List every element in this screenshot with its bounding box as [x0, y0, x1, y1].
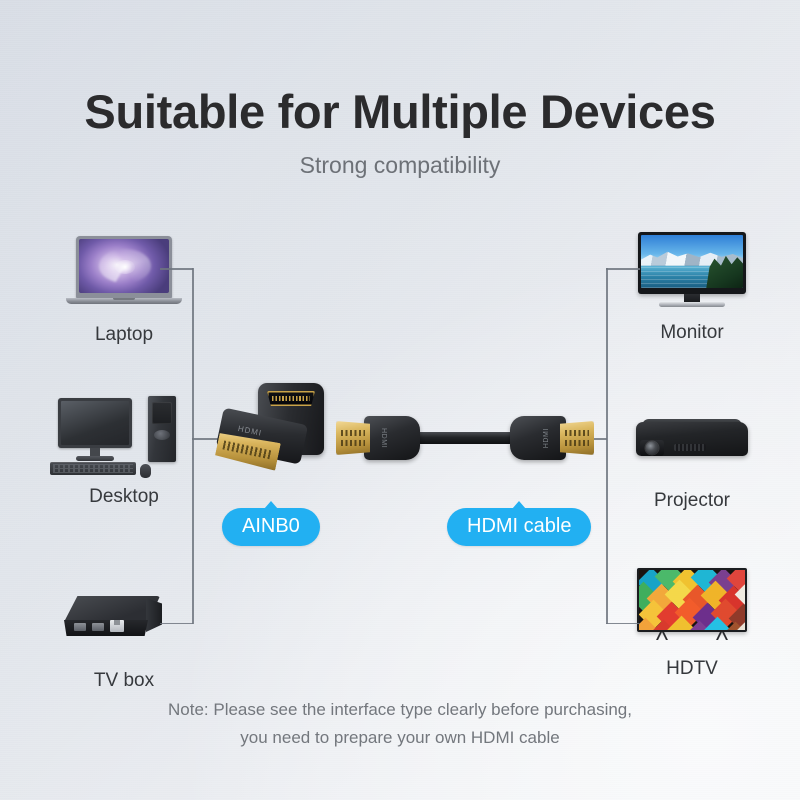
adapter-female-hdmi-port [267, 391, 315, 406]
hdmi-cable-icon: HDMI HDMI [336, 408, 594, 470]
desktop-monitor-foot [76, 456, 114, 461]
cable-hood-left [364, 416, 420, 460]
desktop-monitor [58, 398, 132, 448]
hdtv-bezel [637, 568, 747, 632]
keyboard-icon [50, 462, 136, 475]
hdtv-feet [642, 632, 742, 640]
monitor-screen-landscape [641, 235, 743, 288]
device-label-tvbox: TV box [44, 670, 204, 692]
page-title: Suitable for Multiple Devices [0, 84, 800, 139]
mouse-icon [140, 464, 151, 478]
laptop-wallpaper [79, 239, 169, 293]
tvbox-top [64, 596, 160, 622]
tvbox-port-ethernet [110, 620, 124, 632]
infographic-canvas: Suitable for Multiple Devices Strong com… [0, 0, 800, 800]
tvbox-port-usb-2 [92, 623, 104, 631]
monitor-stand [659, 302, 725, 307]
projector-vent [674, 444, 706, 451]
footer-note-line-2: you need to prepare your own HDMI cable [0, 724, 800, 752]
cable-connector-right [560, 421, 594, 455]
page-subtitle: Strong compatibility [0, 152, 800, 179]
badge-cable-name[interactable]: HDMI cable [447, 508, 591, 546]
laptop-screen [76, 236, 172, 298]
footer-note: Note: Please see the interface type clea… [0, 696, 800, 752]
projector-lens [640, 440, 664, 456]
tvbox-port-usb-1 [74, 623, 86, 631]
device-label-hdtv: HDTV [612, 658, 772, 680]
hdtv-screen-pattern [639, 570, 745, 630]
adapter-port-marking: HDMI [237, 424, 263, 438]
cable-hood-right [510, 416, 566, 460]
badge-adapter-name[interactable]: AINB0 [222, 508, 320, 546]
cable-marking-left: HDMI [380, 428, 387, 448]
footer-note-line-1: Note: Please see the interface type clea… [0, 696, 800, 724]
cable-connector-left [336, 421, 370, 455]
hdmi-right-angle-adapter-icon: HDMI [218, 383, 330, 487]
cable-marking-right: HDMI [543, 428, 550, 448]
monitor-bezel [638, 232, 746, 294]
